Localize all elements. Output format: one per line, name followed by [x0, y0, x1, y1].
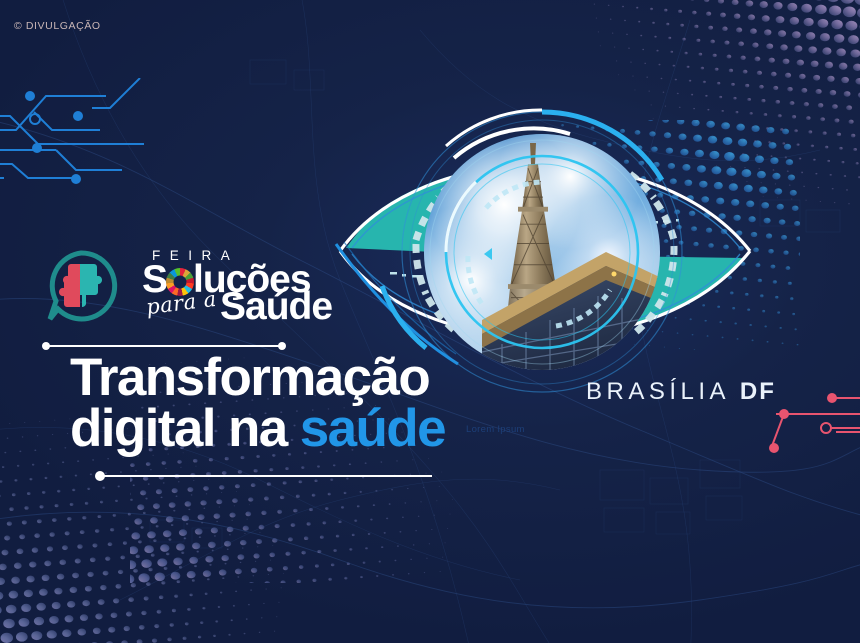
divider-dot-left: [42, 342, 50, 350]
photo-credit: © DIVULGAÇÃO: [14, 20, 101, 32]
location-label: BRASÍLIA DF: [586, 378, 776, 406]
headline-line-2-prefix: digital na: [70, 399, 300, 458]
headline-accent-word: saúde: [300, 399, 445, 458]
iris-photo: [424, 134, 660, 370]
location-state: DF: [740, 378, 776, 405]
logo-wordmark: FEIRA Sluções para a Saúde: [124, 243, 296, 335]
page-title: Transformação digital na saúde: [70, 352, 540, 455]
headline-line-1: Transformação: [70, 352, 540, 403]
divider-dot-start: [95, 471, 105, 481]
small-note: Lorem Ipsum: [466, 424, 525, 435]
logo-word-saude: Saúde: [220, 287, 332, 326]
divider-below-headline: [102, 475, 432, 477]
puzzle-speech-bubble-icon: [44, 249, 118, 323]
poster-canvas: FEIRA Sluções para a Saúde © DIVULGAÇÃO …: [0, 0, 860, 643]
divider-above-headline: [46, 345, 282, 347]
event-logo: FEIRA Sluções para a Saúde: [44, 243, 294, 335]
location-city: BRASÍLIA: [586, 378, 729, 405]
